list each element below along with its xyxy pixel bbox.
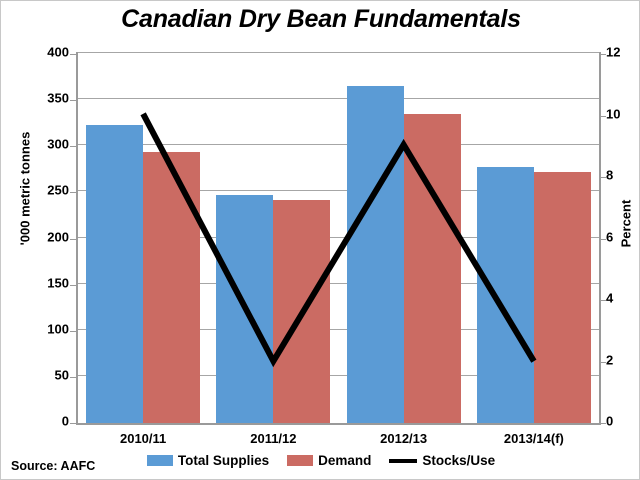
y-axis-left-title: '000 metric tonnes xyxy=(18,109,33,269)
x-axis-tick-label: 2013/14(f) xyxy=(504,431,564,446)
y-axis-left-tickmark xyxy=(70,285,76,286)
y-axis-left-tickmark xyxy=(70,146,76,147)
x-axis-tick-label: 2012/13 xyxy=(380,431,427,446)
legend-item[interactable]: Stocks/Use xyxy=(389,453,495,468)
y-axis-left-tick-label: 250 xyxy=(29,183,69,198)
x-axis-tick-label: 2011/12 xyxy=(250,431,296,446)
y-axis-right-tickmark xyxy=(600,116,606,117)
legend-item[interactable]: Demand xyxy=(287,453,371,468)
legend-line-swatch xyxy=(389,459,417,463)
y-axis-left-tick-label: 0 xyxy=(29,414,69,429)
y-axis-right-tick-label: 12 xyxy=(606,45,640,60)
y-axis-left-tickmark xyxy=(70,100,76,101)
y-axis-left-tick-label: 350 xyxy=(29,91,69,106)
legend-color-swatch xyxy=(287,455,313,466)
y-axis-left-tickmark xyxy=(70,423,76,424)
chart-title: Canadian Dry Bean Fundamentals xyxy=(1,5,640,34)
legend-label: Stocks/Use xyxy=(422,453,495,468)
legend-label: Total Supplies xyxy=(178,453,269,468)
y-axis-left-tick-label: 100 xyxy=(29,321,69,336)
legend-color-swatch xyxy=(147,455,173,466)
y-axis-left-tick-label: 400 xyxy=(29,45,69,60)
y-axis-right-tickmark xyxy=(600,362,606,363)
y-axis-right-tick-label: 0 xyxy=(606,414,640,429)
y-axis-right-tickmark xyxy=(600,300,606,301)
y-axis-left-tickmark xyxy=(70,377,76,378)
source-note: Source: AAFC xyxy=(11,459,95,473)
y-axis-right-tick-label: 2 xyxy=(606,352,640,367)
y-axis-right-tick-label: 4 xyxy=(606,291,640,306)
y-axis-left-tickmark xyxy=(70,239,76,240)
y-axis-left-tick-label: 150 xyxy=(29,275,69,290)
y-axis-right-tickmark xyxy=(600,177,606,178)
y-axis-right-tickmark xyxy=(600,239,606,240)
y-axis-left-tick-label: 200 xyxy=(29,229,69,244)
chart-legend: Total SuppliesDemandStocks/Use xyxy=(1,453,640,468)
y-axis-left-tick-label: 300 xyxy=(29,137,69,152)
y-axis-right-tick-label: 10 xyxy=(606,106,640,121)
stocks-use-line xyxy=(78,52,599,423)
y-axis-left-tickmark xyxy=(70,192,76,193)
x-axis-tick-label: 2010/11 xyxy=(120,431,166,446)
y-axis-right-tickmark xyxy=(600,423,606,424)
stocks-use-polyline xyxy=(143,114,534,361)
y-axis-left-tickmark xyxy=(70,331,76,332)
legend-label: Demand xyxy=(318,453,371,468)
y-axis-right-tickmark xyxy=(600,54,606,55)
y-axis-right-title: Percent xyxy=(619,164,634,284)
legend-item[interactable]: Total Supplies xyxy=(147,453,269,468)
y-axis-left-tick-label: 50 xyxy=(29,367,69,382)
chart-container: Canadian Dry Bean Fundamentals 050100150… xyxy=(0,0,640,480)
y-axis-left-tickmark xyxy=(70,54,76,55)
plot-area xyxy=(76,52,601,425)
